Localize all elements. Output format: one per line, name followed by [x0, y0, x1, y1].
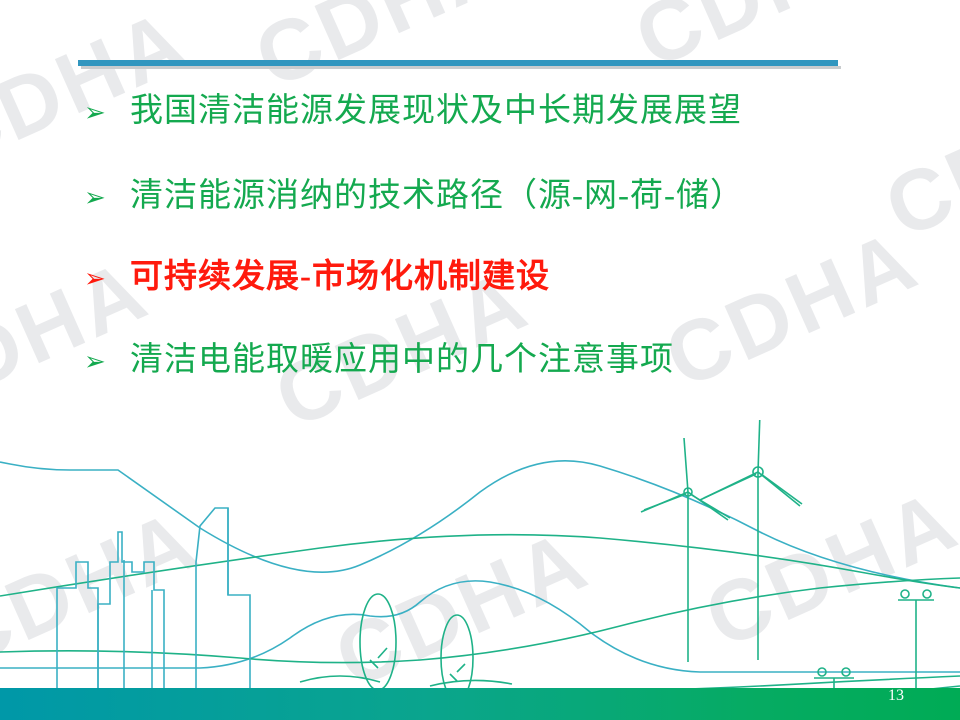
slide-canvas: CDHA CDHA CDHA CDHA CDHA CDHA CDHA CDHA … [0, 0, 960, 720]
hill-mid-line [0, 581, 960, 672]
list-item-label: 可持续发展-市场化机制建设 [130, 258, 924, 297]
title-rule-shadow [81, 66, 841, 69]
landscape-artwork [0, 420, 960, 720]
footer-bar [0, 688, 960, 720]
title-rule [78, 60, 838, 70]
city-skyline [57, 508, 250, 708]
list-item-label: 我国清洁能源发展现状及中长期发展展望 [130, 92, 924, 131]
page-number: 13 [888, 688, 904, 704]
list-item[interactable]: ➢ 清洁电能取暖应用中的几个注意事项 [84, 341, 924, 380]
list-item[interactable]: ➢ 可持续发展-市场化机制建设 [84, 258, 924, 297]
agenda-list: ➢ 我国清洁能源发展现状及中长期发展展望 ➢ 清洁能源消纳的技术路径（源-网-荷… [84, 92, 924, 420]
arrow-bullet-icon: ➢ [84, 266, 130, 292]
list-item-label: 清洁电能取暖应用中的几个注意事项 [130, 341, 924, 380]
ridge-green-line [0, 578, 960, 663]
arrow-bullet-icon: ➢ [84, 349, 130, 375]
arrow-bullet-icon: ➢ [84, 100, 130, 126]
list-item[interactable]: ➢ 清洁能源消纳的技术路径（源-网-荷-储） [84, 177, 924, 216]
list-item[interactable]: ➢ 我国清洁能源发展现状及中长期发展展望 [84, 92, 924, 131]
watermark-text: CDHA [621, 0, 903, 88]
list-item-label: 清洁能源消纳的技术路径（源-网-荷-储） [130, 177, 924, 216]
arrow-bullet-icon: ➢ [84, 185, 130, 211]
